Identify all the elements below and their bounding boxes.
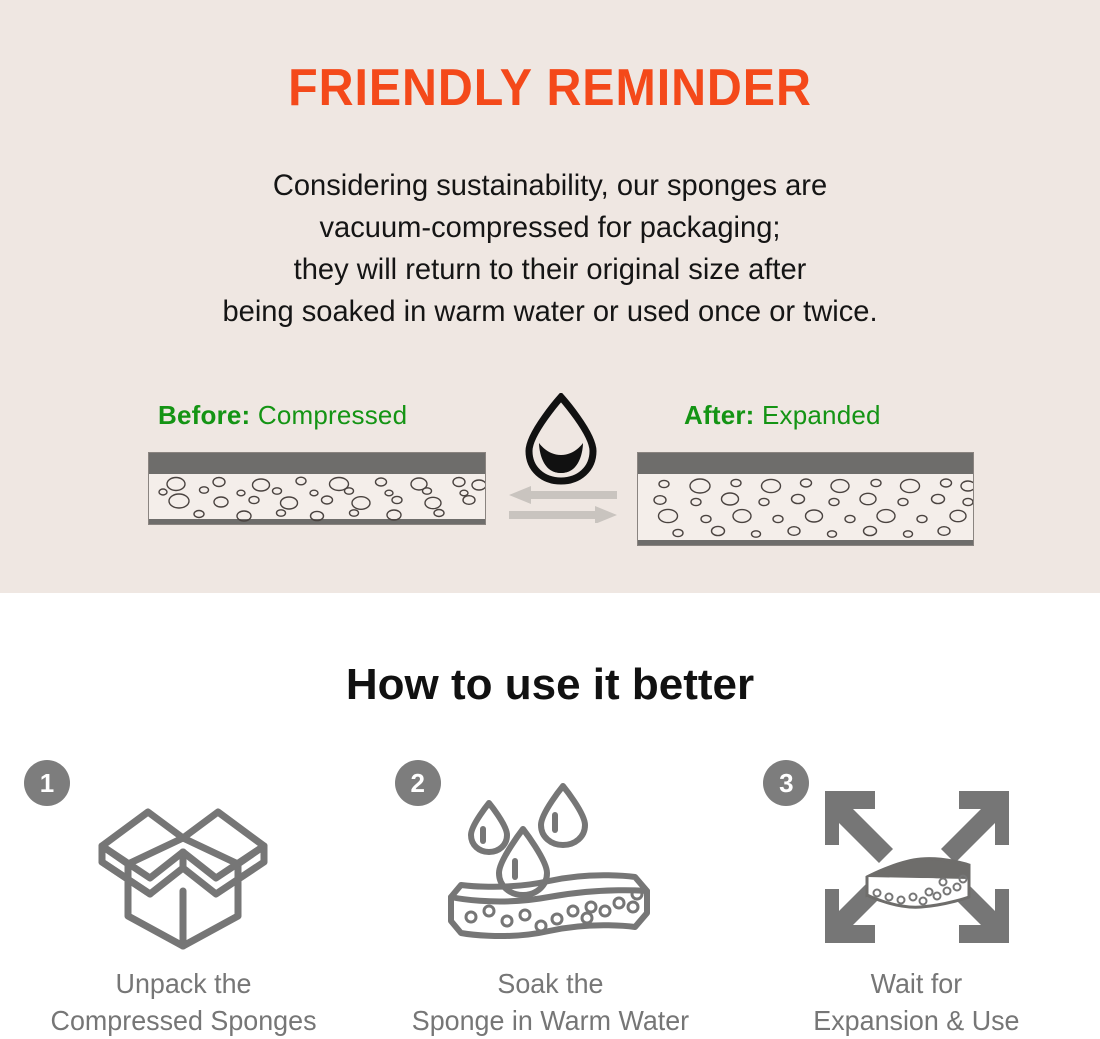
step-caption-line-2: Sponge in Warm Water: [411, 1002, 688, 1039]
step-caption: Unpack the Compressed Sponges: [45, 965, 322, 1039]
expanding-arrows-sponge-icon: [817, 778, 1017, 951]
infographic-page: FRIENDLY REMINDER Considering sustainabi…: [0, 0, 1100, 1039]
step-caption-line-1: Soak the: [411, 965, 688, 1002]
friendly-reminder-panel: FRIENDLY REMINDER Considering sustainabi…: [0, 0, 1100, 593]
step-caption-line-1: Wait for: [814, 965, 1020, 1002]
page-title: FRIENDLY REMINDER: [39, 58, 1062, 118]
how-to-use-heading: How to use it better: [0, 660, 1100, 710]
after-label-strong: After:: [684, 400, 755, 430]
step-number-badge: 3: [763, 760, 809, 806]
reminder-line-4: being soaked in warm water or used once …: [17, 291, 1084, 333]
transformation-indicator: [503, 393, 623, 523]
step-caption-line-2: Compressed Sponges: [50, 1002, 316, 1039]
expanded-sponge: [867, 859, 969, 908]
before-label: Before: Compressed: [158, 400, 407, 431]
reminder-line-3: they will return to their original size …: [17, 249, 1084, 291]
water-drops-on-sponge-icon: [445, 778, 655, 951]
step-caption-line-2: Expansion & Use: [814, 1002, 1020, 1039]
step-number-badge: 1: [24, 760, 70, 806]
reminder-line-2: vacuum-compressed for packaging;: [17, 207, 1084, 249]
sponge-pores: [149, 453, 486, 525]
step-caption: Soak the Sponge in Warm Water: [406, 965, 695, 1039]
reminder-line-1: Considering sustainability, our sponges …: [17, 165, 1084, 207]
step-item-3: 3: [733, 752, 1100, 1039]
reminder-body-text: Considering sustainability, our sponges …: [0, 165, 1100, 333]
before-label-strong: Before:: [158, 400, 250, 430]
expanded-sponge-illustration: [637, 452, 974, 546]
compressed-sponge-illustration: [148, 452, 486, 525]
step-item-1: 1: [0, 752, 367, 1039]
sponge-pores: [638, 453, 974, 546]
before-label-light: Compressed: [258, 400, 407, 430]
step-caption: Wait for Expansion & Use: [809, 965, 1024, 1039]
step-item-2: 2: [367, 752, 734, 1039]
water-drop-icon: [529, 397, 593, 481]
open-box-icon: [88, 778, 278, 951]
arrow-right-icon: [509, 506, 617, 523]
steps-row: 1: [0, 752, 1100, 1039]
after-label-light: Expanded: [762, 400, 881, 430]
step-caption-line-1: Unpack the: [50, 965, 316, 1002]
step-number-badge: 2: [395, 760, 441, 806]
after-label: After: Expanded: [684, 400, 881, 431]
arrow-left-icon: [509, 486, 617, 504]
